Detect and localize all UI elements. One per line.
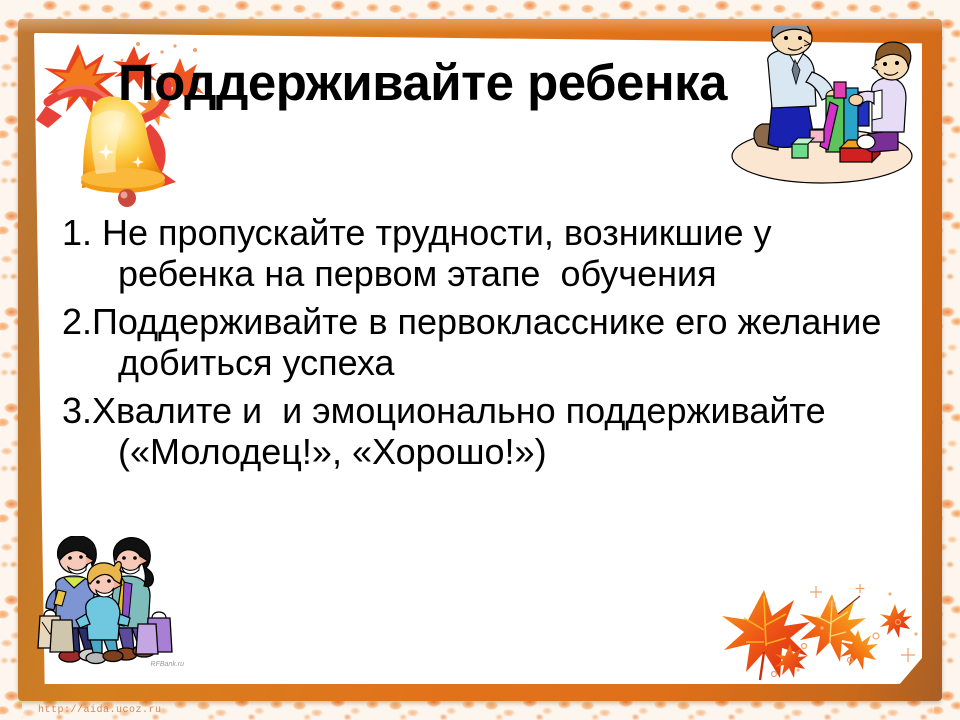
autumn-leaves-icon	[712, 574, 927, 684]
clipart-signature: RFBank.ru	[151, 661, 184, 668]
site-watermark: http://aida.ucoz.ru	[38, 705, 162, 716]
bullet-list: 1. Не пропускайте трудности, возникшие у…	[62, 212, 882, 478]
slide-title: Поддерживайте ребенка	[118, 56, 878, 110]
list-item: 1. Не пропускайте трудности, возникшие у…	[62, 212, 882, 295]
family-shopping-icon: RFBank.ru	[28, 536, 188, 666]
list-item: 2.Поддерживайте в первокласснике его жел…	[62, 301, 882, 384]
slide-canvas: Поддерживайте ребенка	[0, 0, 960, 720]
list-item: 3.Хвалите и и эмоционально поддерживайте…	[62, 390, 882, 473]
adult-and-child-blocks-icon	[722, 26, 922, 194]
